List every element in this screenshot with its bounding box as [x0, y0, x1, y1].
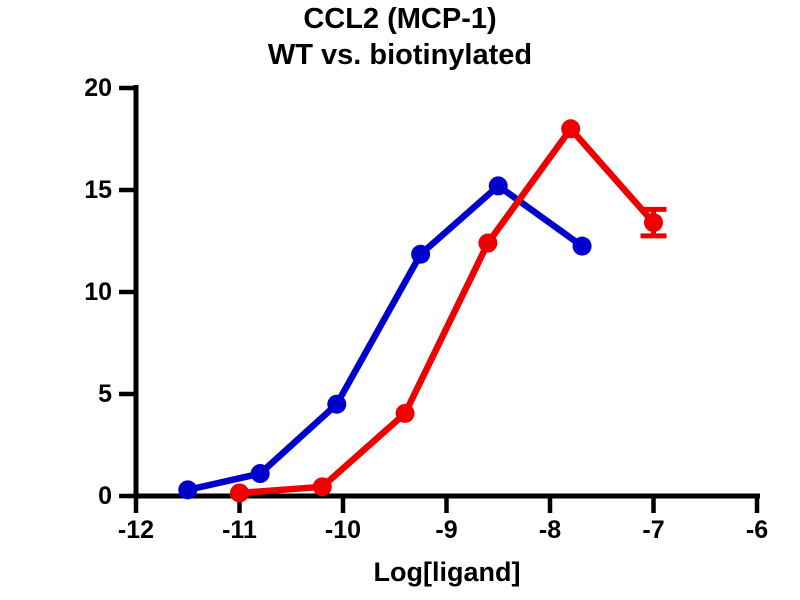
data-series [178, 119, 666, 502]
y-tick-label: 0 [52, 482, 112, 511]
data-point [561, 119, 580, 138]
x-tick-label: -7 [619, 516, 689, 545]
y-tick-label: 15 [52, 176, 112, 205]
data-point [230, 483, 249, 502]
series-line [188, 186, 582, 490]
data-point [478, 234, 497, 253]
data-point [178, 480, 197, 499]
x-tick-label: -6 [722, 516, 792, 545]
chart-figure: CCL2 (MCP-1) WT vs. biotinylated % Migra… [0, 0, 800, 600]
data-point [411, 245, 430, 264]
y-tick-label: 5 [52, 380, 112, 409]
data-point [573, 237, 592, 256]
data-point [313, 477, 332, 496]
x-tick-label: -11 [205, 516, 275, 545]
data-point [251, 464, 270, 483]
data-point [644, 213, 663, 232]
x-tick-label: -12 [101, 516, 171, 545]
data-point [327, 395, 346, 414]
x-tick-label: -10 [308, 516, 378, 545]
axis-ticks [119, 88, 757, 513]
x-tick-label: -9 [412, 516, 482, 545]
plot-area [0, 0, 800, 600]
data-point [489, 176, 508, 195]
x-tick-label: -8 [515, 516, 585, 545]
series-wt [178, 176, 591, 499]
y-tick-label: 10 [52, 278, 112, 307]
data-point [396, 404, 415, 423]
y-tick-label: 20 [52, 74, 112, 103]
